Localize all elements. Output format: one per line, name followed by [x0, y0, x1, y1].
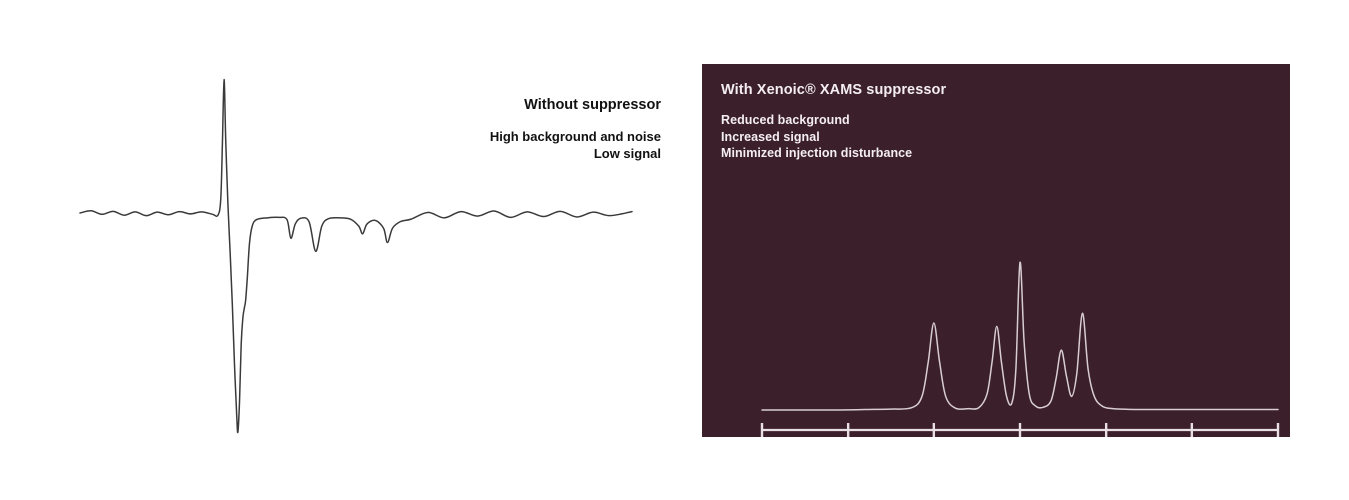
with-suppressor-note-0: Reduced background — [721, 112, 946, 129]
without-suppressor-chromatogram — [0, 0, 690, 500]
with-suppressor-note-1: Increased signal — [721, 129, 946, 146]
right-trace-group — [762, 262, 1278, 410]
right-signal-trace — [762, 262, 1278, 410]
without-suppressor-note-1: Low signal — [490, 146, 661, 163]
with-suppressor-note-2: Minimized injection disturbance — [721, 145, 946, 162]
without-suppressor-panel: Without suppressor High background and n… — [0, 0, 690, 500]
without-suppressor-title: Without suppressor — [490, 95, 661, 115]
without-suppressor-label-block: Without suppressor High background and n… — [490, 95, 661, 162]
time-axis-ruler — [762, 423, 1278, 437]
with-suppressor-panel: With Xenoic® XAMS suppressor Reduced bac… — [702, 64, 1290, 437]
with-suppressor-label-block: With Xenoic® XAMS suppressor Reduced bac… — [721, 80, 946, 162]
with-suppressor-title: With Xenoic® XAMS suppressor — [721, 80, 946, 100]
without-suppressor-note-0: High background and noise — [490, 129, 661, 146]
